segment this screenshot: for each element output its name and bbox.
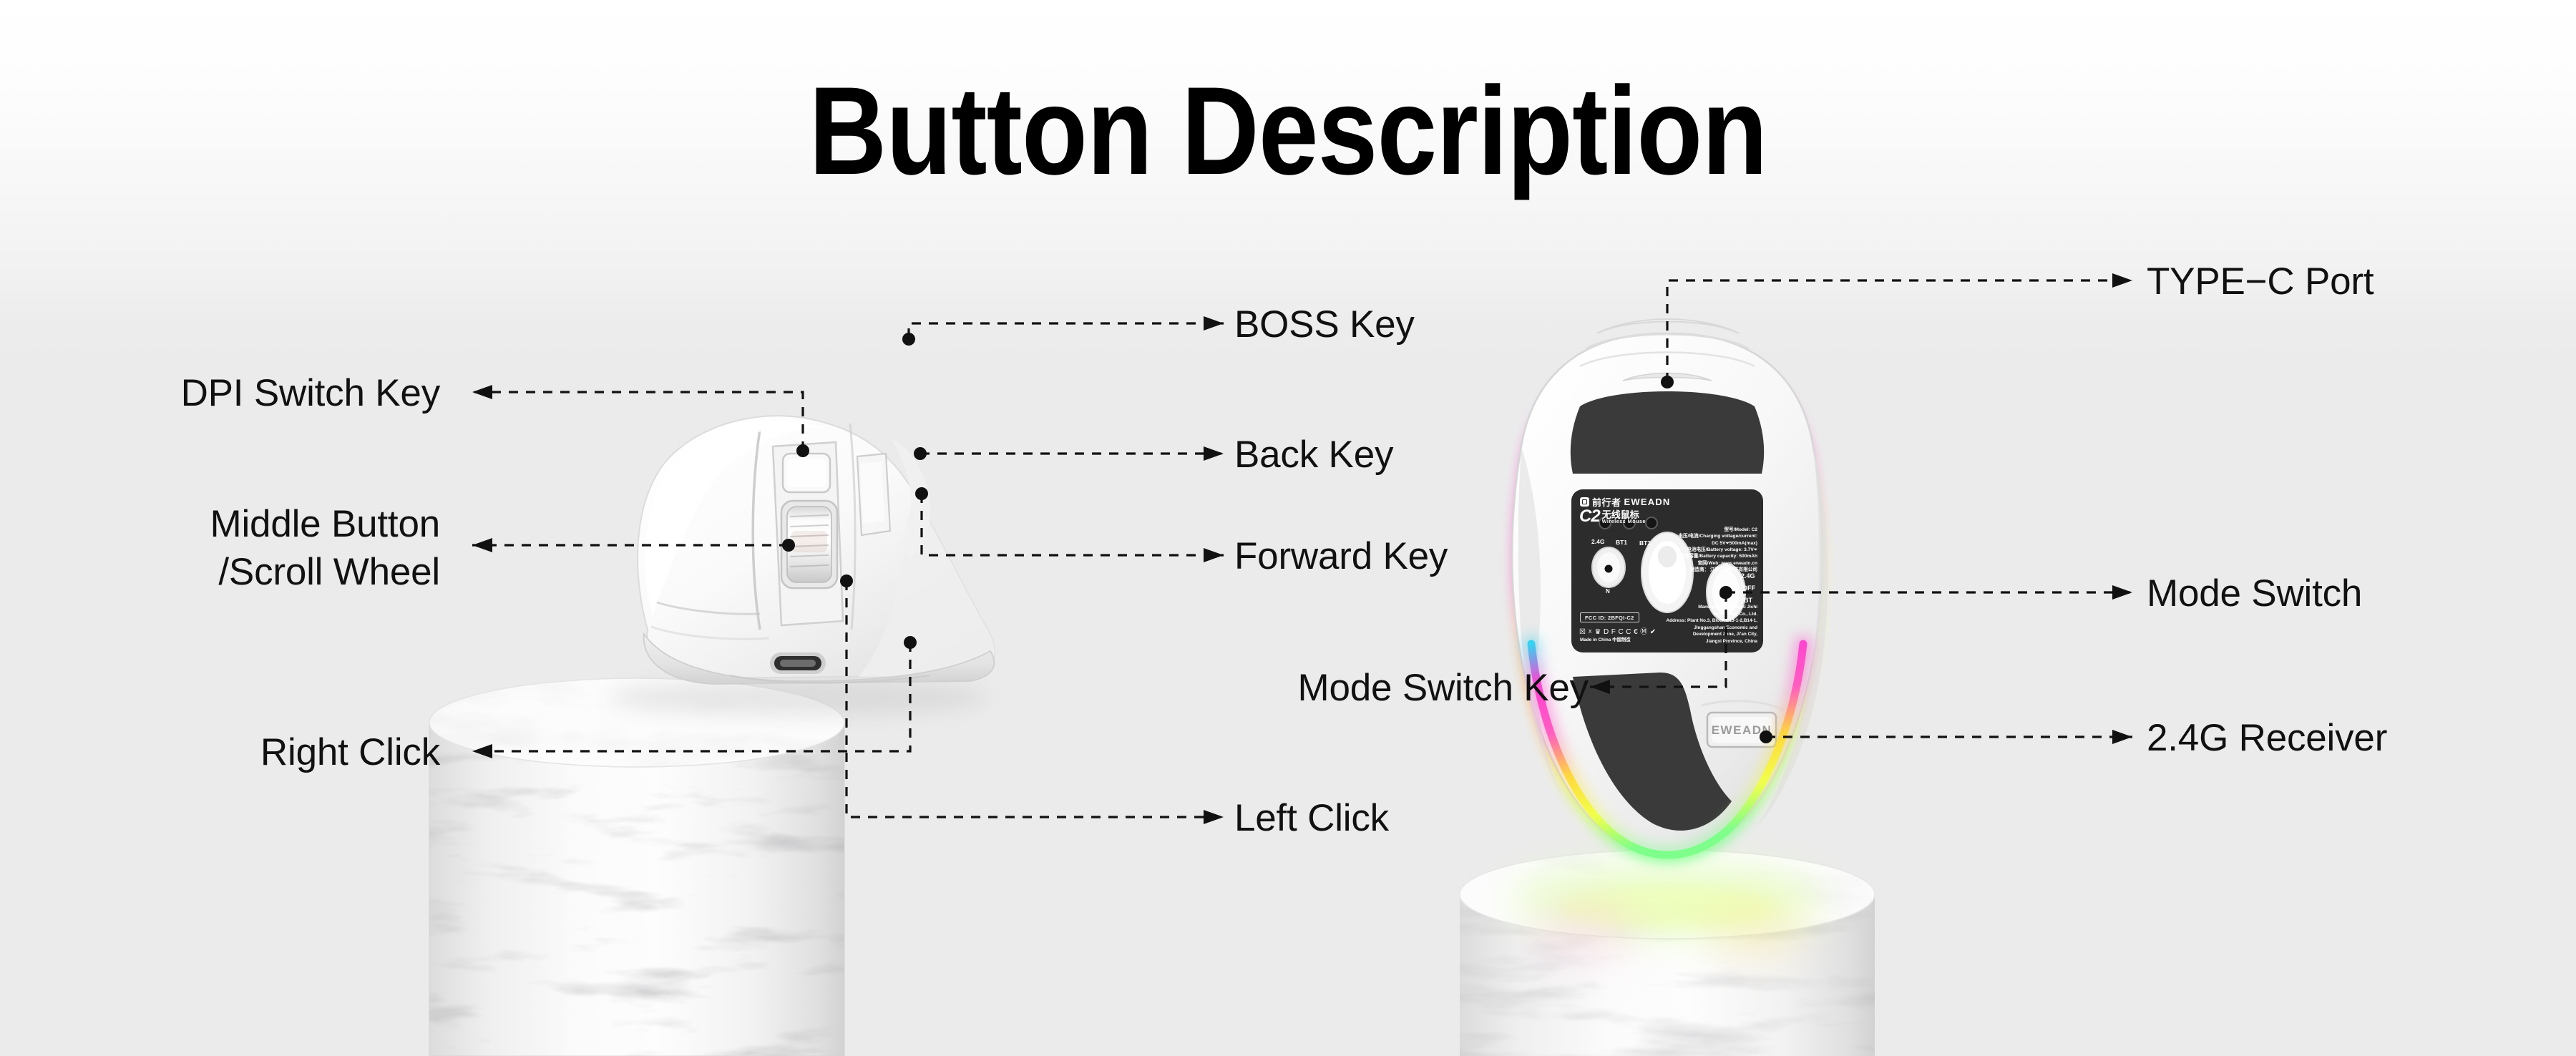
callout-label-back-key: Back Key bbox=[1234, 431, 1393, 479]
callout-label-24g-receiver: 2.4G Receiver bbox=[2147, 715, 2387, 763]
callout-label-mode-switch: Mode Switch bbox=[2147, 570, 2362, 618]
callout-label-dpi-switch-key: DPI Switch Key bbox=[181, 370, 440, 418]
callout-label-middle-button: Middle Button /Scroll Wheel bbox=[210, 501, 440, 597]
callout-label-right-click: Right Click bbox=[260, 729, 440, 777]
leader-mode-switch-key bbox=[1590, 592, 1726, 687]
leader-type-c-port bbox=[1667, 280, 2132, 382]
callout-label-left-click: Left Click bbox=[1234, 795, 1389, 843]
callout-label-boss-key: BOSS Key bbox=[1234, 301, 1415, 349]
leader-left-click bbox=[847, 581, 1224, 817]
leader-boss-key bbox=[909, 323, 1224, 338]
leader-forward-key bbox=[922, 494, 1224, 555]
leader-right-click bbox=[472, 642, 910, 751]
callout-label-forward-key: Forward Key bbox=[1234, 533, 1448, 581]
callout-label-type-c-port: TYPE−C Port bbox=[2147, 258, 2373, 306]
leader-dpi-switch-key bbox=[472, 392, 803, 451]
infographic-canvas: Button Description bbox=[0, 0, 2576, 1056]
callout-label-mode-switch-key: Mode Switch Key bbox=[1298, 665, 1589, 713]
